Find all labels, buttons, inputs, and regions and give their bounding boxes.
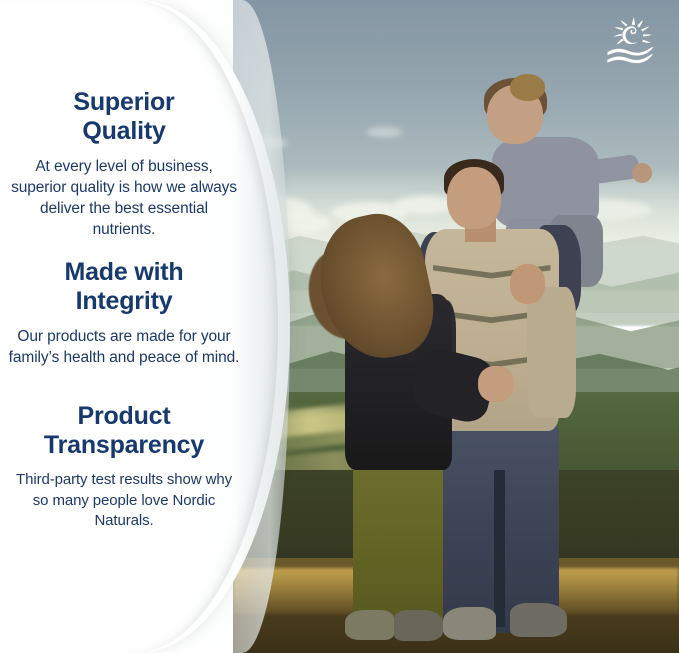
lifestyle-photo	[233, 0, 679, 653]
headline-line: Made with	[64, 258, 183, 286]
feature-headline: Made with Integrity	[8, 258, 240, 316]
man-shoe	[510, 603, 568, 637]
man-arm	[527, 287, 576, 418]
headline-line: Transparency	[44, 431, 204, 459]
family-group	[233, 0, 679, 653]
man-hand	[510, 264, 546, 303]
feature-body: At every level of business, superior qua…	[8, 156, 240, 240]
panel-content: Superior Quality At every level of busin…	[0, 0, 262, 653]
woman-shoe	[394, 610, 443, 641]
feature-block-superior-quality: Superior Quality At every level of busin…	[8, 88, 240, 240]
sun-wave-logo-icon	[601, 16, 663, 68]
headline-line: Integrity	[76, 287, 173, 315]
man-head	[447, 167, 501, 229]
feature-block-made-with-integrity: Made with Integrity Our products are mad…	[8, 258, 240, 368]
promotional-banner: Superior Quality At every level of busin…	[0, 0, 679, 653]
man-leg-separation	[494, 470, 505, 627]
feature-body: Our products are made for your family’s …	[8, 326, 240, 368]
headline-line: Quality	[82, 117, 165, 145]
woman-hand	[478, 366, 514, 402]
man-shoe	[443, 607, 497, 640]
feature-headline: Superior Quality	[8, 88, 240, 146]
headline-line: Product	[77, 402, 170, 430]
child-hair	[510, 74, 546, 100]
feature-headline: Product Transparency	[8, 402, 240, 460]
woman-shoe	[345, 610, 394, 640]
headline-line: Superior	[73, 88, 174, 116]
feature-body: Third-party test results show why so man…	[8, 470, 240, 532]
woman-pants	[353, 457, 442, 633]
feature-block-product-transparency: Product Transparency Third-party test re…	[8, 402, 240, 532]
child-hand	[631, 162, 654, 185]
